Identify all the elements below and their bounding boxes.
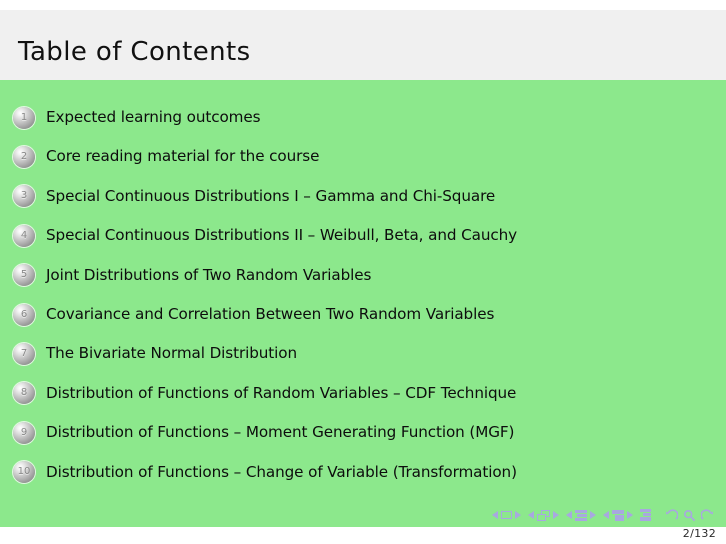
prev-subsection-arrow-icon[interactable] xyxy=(566,511,572,519)
toc-entry-label: Distribution of Functions – Moment Gener… xyxy=(46,425,514,440)
subsection-icon[interactable] xyxy=(575,510,587,521)
bullet-ball-icon: 2 xyxy=(13,146,35,168)
toc-entry-label: Special Continuous Distributions II – We… xyxy=(46,228,517,243)
bullet-number: 10 xyxy=(18,467,31,477)
bullet-number: 9 xyxy=(21,428,27,438)
toc-entry-label: The Bivariate Normal Distribution xyxy=(46,346,297,361)
bullet-number: 5 xyxy=(21,270,27,280)
search-icon[interactable] xyxy=(683,509,696,522)
list-item[interactable]: 5 Joint Distributions of Two Random Vari… xyxy=(0,256,726,295)
bullet-number: 4 xyxy=(21,231,27,241)
frame-icon[interactable] xyxy=(537,510,550,521)
toc-entry-label: Distribution of Functions of Random Vari… xyxy=(46,386,516,401)
page-title: Table of Contents xyxy=(18,39,251,65)
bullet-ball-icon: 5 xyxy=(13,264,35,286)
section-icon[interactable] xyxy=(612,510,624,521)
list-item[interactable]: 9 Distribution of Functions – Moment Gen… xyxy=(0,413,726,452)
prev-section-arrow-icon[interactable] xyxy=(603,511,609,519)
next-section-arrow-icon[interactable] xyxy=(627,511,633,519)
document-icon[interactable] xyxy=(640,509,651,521)
table-of-contents-list: 1 Expected learning outcomes 2 Core read… xyxy=(0,98,726,492)
page-number: 2/132 xyxy=(683,528,716,539)
bullet-number: 3 xyxy=(21,191,27,201)
back-arrow-icon[interactable] xyxy=(665,509,678,522)
next-slide-arrow-icon[interactable] xyxy=(515,511,521,519)
list-item[interactable]: 3 Special Continuous Distributions I – G… xyxy=(0,177,726,216)
beamer-slide: Table of Contents 1 Expected learning ou… xyxy=(0,0,726,544)
prev-slide-arrow-icon[interactable] xyxy=(492,511,498,519)
frame-navigation-group[interactable] xyxy=(528,510,559,521)
bullet-ball-icon: 8 xyxy=(13,382,35,404)
list-item[interactable]: 8 Distribution of Functions of Random Va… xyxy=(0,374,726,413)
bullet-ball-icon: 3 xyxy=(13,185,35,207)
bullet-number: 6 xyxy=(21,310,27,320)
bullet-number: 1 xyxy=(21,113,27,123)
list-item[interactable]: 2 Core reading material for the course xyxy=(0,137,726,176)
forward-arrow-icon[interactable] xyxy=(701,509,714,522)
beamer-navigation-symbols[interactable] xyxy=(492,507,714,523)
bullet-ball-icon: 10 xyxy=(13,461,35,483)
prev-frame-arrow-icon[interactable] xyxy=(528,511,534,519)
list-item[interactable]: 1 Expected learning outcomes xyxy=(0,98,726,137)
bullet-ball-icon: 6 xyxy=(13,304,35,326)
section-navigation-group[interactable] xyxy=(603,510,633,521)
top-margin xyxy=(0,0,726,10)
next-subsection-arrow-icon[interactable] xyxy=(590,511,596,519)
bullet-number: 7 xyxy=(21,349,27,359)
list-item[interactable]: 6 Covariance and Correlation Between Two… xyxy=(0,295,726,334)
history-navigation-group[interactable] xyxy=(665,509,714,522)
toc-entry-label: Covariance and Correlation Between Two R… xyxy=(46,307,494,322)
frame-title-bar: Table of Contents xyxy=(0,10,726,80)
toc-entry-label: Joint Distributions of Two Random Variab… xyxy=(46,268,371,283)
slide-icon[interactable] xyxy=(501,511,512,519)
list-item[interactable]: 4 Special Continuous Distributions II – … xyxy=(0,216,726,255)
toc-entry-label: Expected learning outcomes xyxy=(46,110,260,125)
bullet-ball-icon: 1 xyxy=(13,107,35,129)
toc-entry-label: Core reading material for the course xyxy=(46,149,319,164)
list-item[interactable]: 10 Distribution of Functions – Change of… xyxy=(0,453,726,492)
toc-entry-label: Special Continuous Distributions I – Gam… xyxy=(46,189,495,204)
bullet-number: 2 xyxy=(21,152,27,162)
frame-body: 1 Expected learning outcomes 2 Core read… xyxy=(0,80,726,527)
subsection-navigation-group[interactable] xyxy=(566,510,596,521)
toc-entry-label: Distribution of Functions – Change of Va… xyxy=(46,465,517,480)
bullet-ball-icon: 4 xyxy=(13,225,35,247)
next-frame-arrow-icon[interactable] xyxy=(553,511,559,519)
bullet-number: 8 xyxy=(21,388,27,398)
list-item[interactable]: 7 The Bivariate Normal Distribution xyxy=(0,334,726,373)
slide-navigation-group[interactable] xyxy=(492,511,521,519)
bullet-ball-icon: 7 xyxy=(13,343,35,365)
bullet-ball-icon: 9 xyxy=(13,422,35,444)
